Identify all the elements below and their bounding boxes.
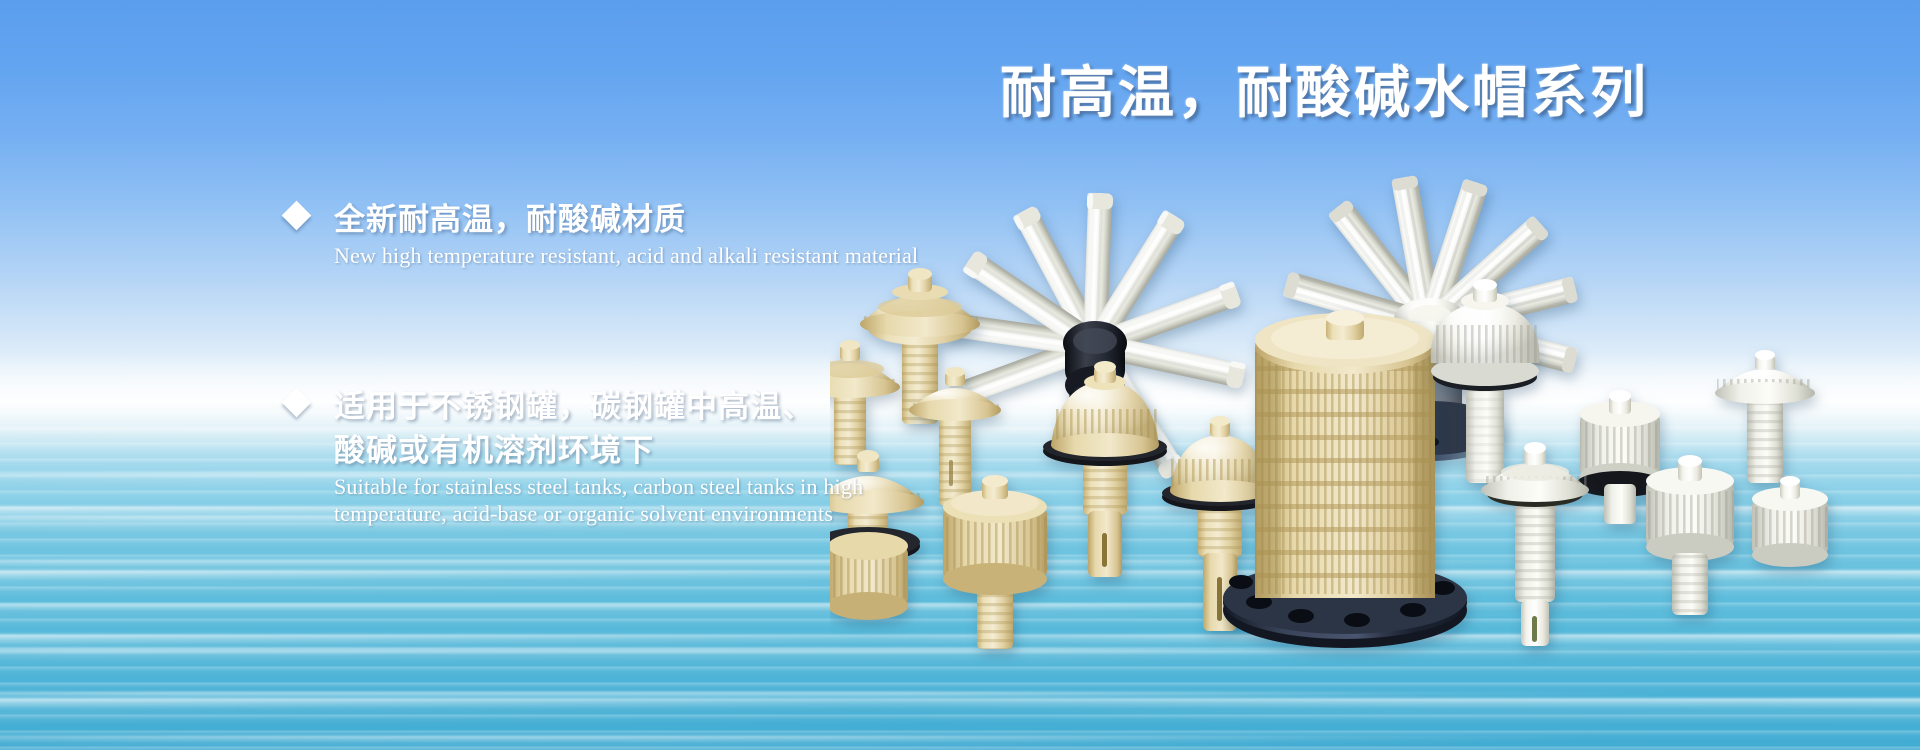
page-title: 耐高温，耐酸碱水帽系列 — [1000, 62, 1649, 125]
feature-1-cn-line-1: 全新耐高温，耐酸碱材质 — [334, 198, 918, 242]
feature-2-en-line-2: temperature, acid-base or organic solven… — [334, 500, 863, 527]
feature-2-cn-line-1: 适用于不锈钢罐，碳钢罐中高温、 — [334, 385, 863, 429]
feature-2-cn-line-2: 酸碱或有机溶剂环境下 — [334, 429, 863, 473]
feature-item-1: 全新耐高温，耐酸碱材质 New high temperature resista… — [286, 198, 918, 269]
diamond-bullet-icon — [282, 201, 312, 231]
feature-1-en-line-1: New high temperature resistant, acid and… — [334, 242, 918, 269]
feature-item-2: 适用于不锈钢罐，碳钢罐中高温、 酸碱或有机溶剂环境下 Suitable for … — [286, 385, 863, 527]
feature-2-en-line-1: Suitable for stainless steel tanks, carb… — [334, 473, 863, 500]
diamond-bullet-icon — [282, 388, 312, 418]
promo-banner: 耐高温，耐酸碱水帽系列 全新耐高温，耐酸碱材质 New high tempera… — [0, 0, 1920, 750]
